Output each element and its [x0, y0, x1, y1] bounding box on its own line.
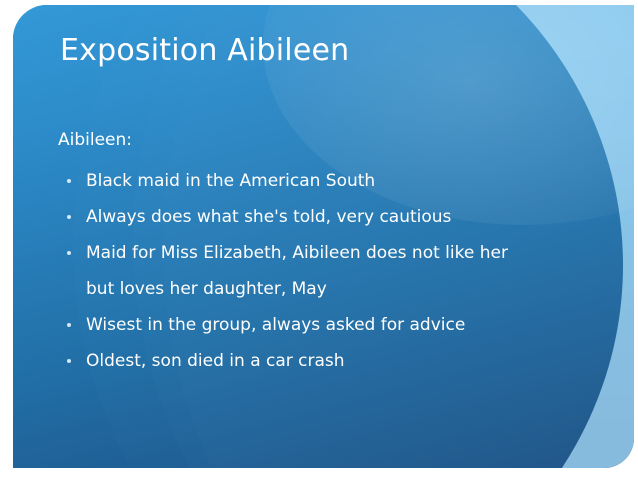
bullet-list: Black maid in the American South Always … — [58, 163, 578, 379]
bullet-dot-icon — [67, 251, 71, 255]
list-item: Maid for Miss Elizabeth, Aibileen does n… — [58, 235, 578, 307]
bullet-text: Oldest, son died in a car crash — [86, 351, 345, 371]
slide-content: Exposition Aibileen Aibileen: Black maid… — [13, 5, 634, 468]
list-item: Black maid in the American South — [58, 163, 578, 199]
list-item: Oldest, son died in a car crash — [58, 343, 578, 379]
bullet-dot-icon — [67, 323, 71, 327]
bullet-text: Always does what she's told, very cautio… — [86, 207, 451, 227]
bullet-dot-icon — [67, 215, 71, 219]
slide-title: Exposition Aibileen — [60, 33, 580, 69]
slide-frame: Exposition Aibileen Aibileen: Black maid… — [0, 0, 638, 478]
bullet-text: Black maid in the American South — [86, 171, 375, 191]
list-item: Always does what she's told, very cautio… — [58, 199, 578, 235]
bullet-text-continuation: but loves her daughter, May — [86, 271, 578, 307]
list-item: Wisest in the group, always asked for ad… — [58, 307, 578, 343]
slide-canvas: Exposition Aibileen Aibileen: Black maid… — [13, 5, 634, 468]
slide-body: Aibileen: Black maid in the American Sou… — [58, 127, 578, 379]
bullet-dot-icon — [67, 179, 71, 183]
body-lead-label: Aibileen: — [58, 127, 578, 153]
bullet-text: Wisest in the group, always asked for ad… — [86, 315, 465, 335]
bullet-dot-icon — [67, 359, 71, 363]
bullet-text: Maid for Miss Elizabeth, Aibileen does n… — [86, 243, 508, 263]
